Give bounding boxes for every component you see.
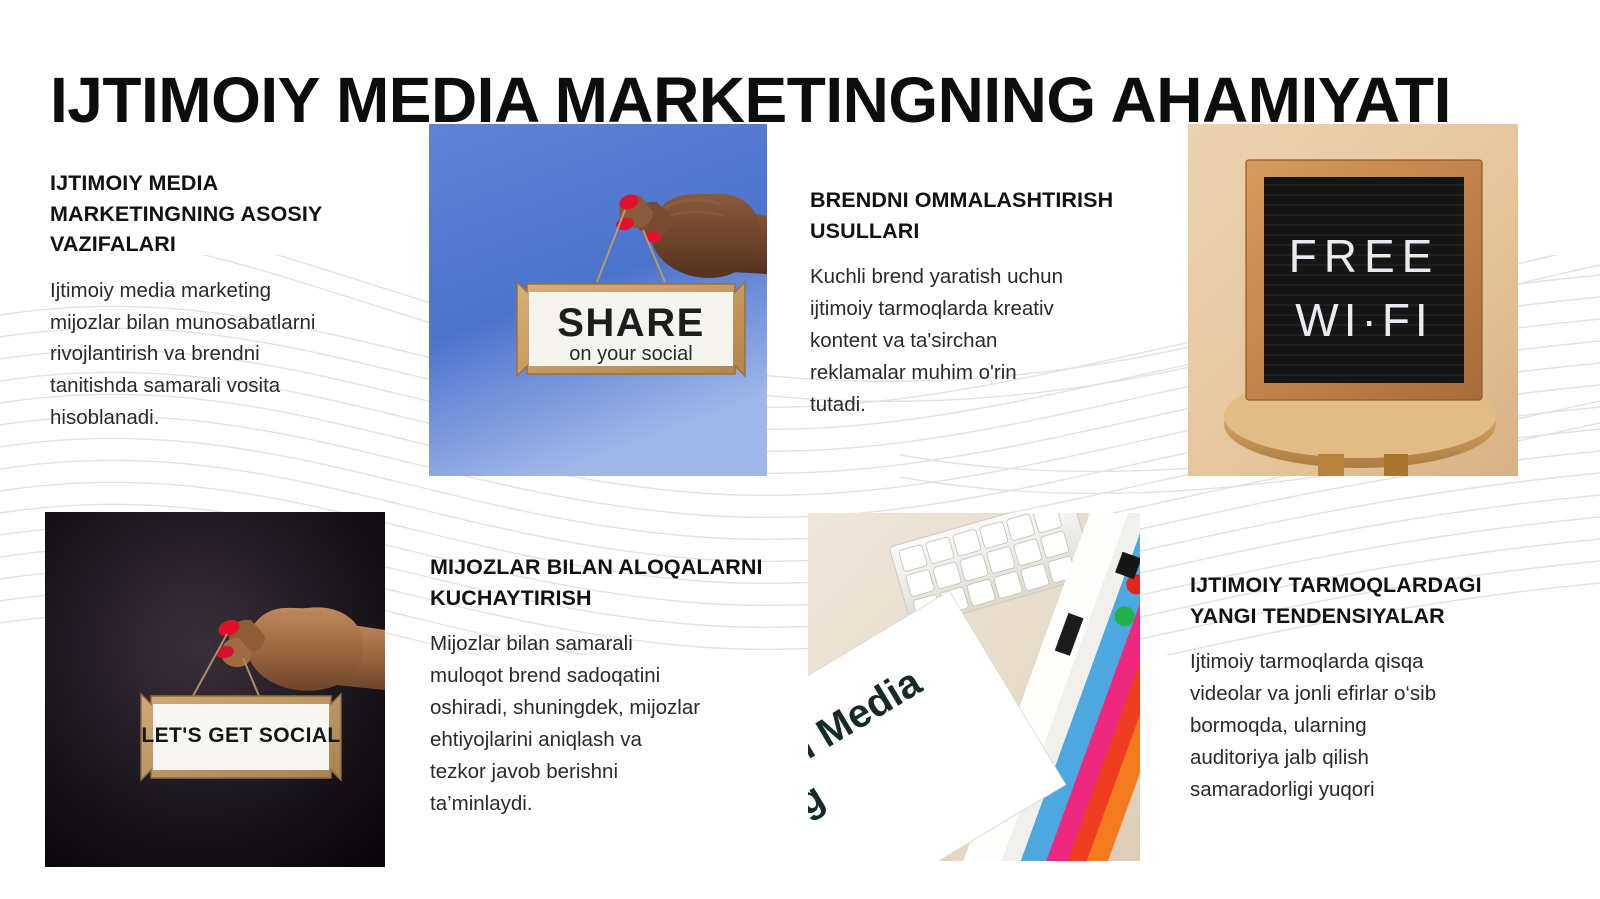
block-heading-relations: MIJOZLAR BILAN ALOQALARNI KUCHAYTIRISH [430, 552, 770, 613]
body-line: bormoqda, ularning [1190, 710, 1520, 742]
free-wifi-letterboard-photo: FREE WI·FI [1188, 124, 1518, 476]
body-line: rivojlantirish va brendni [50, 338, 390, 370]
heading-line: IJTIMOIY TARMOQLARDAGI [1190, 573, 1482, 597]
body-line: Ijtimoiy media marketing [50, 275, 390, 307]
heading-line: MIJOZLAR BILAN [430, 555, 613, 579]
body-line: auditoriya jalb qilish [1190, 742, 1520, 774]
body-line: tanitishda samarali vosita [50, 370, 390, 402]
heading-line: USULLARI [810, 219, 920, 243]
body-line: Kuchli brend yaratish uchun [810, 261, 1140, 293]
text-block-relations: MIJOZLAR BILAN ALOQALARNI KUCHAYTIRISH M… [430, 552, 770, 820]
body-line: ehtiyojlarini aniqlash va [430, 724, 770, 756]
block-heading-trends: IJTIMOIY TARMOQLARDAGI YANGI TENDENSIYAL… [1190, 570, 1520, 631]
presentation-slide: IJTIMOIY MEDIA MARKETINGNING AHAMIYATI I… [0, 0, 1600, 899]
social-media-marketing-notebook-photo: ocial Media ting [808, 513, 1140, 861]
body-line: kontent va ta'sirchan [810, 325, 1140, 357]
body-line: ijtimoiy tarmoqlarda kreativ [810, 293, 1140, 325]
svg-text:FREE: FREE [1289, 230, 1440, 282]
body-line: samaradorligi yuqori [1190, 774, 1520, 806]
body-line: Mijozlar bilan samarali [430, 628, 770, 660]
body-line: mijozlar bilan munosabatlarni [50, 307, 390, 339]
body-line: muloqot brend sadoqatini [430, 660, 770, 692]
svg-text:on your social: on your social [569, 343, 692, 365]
share-on-your-social-sign-photo: SHARE on your social [429, 124, 767, 476]
svg-text:LET'S GET SOCIAL: LET'S GET SOCIAL [141, 724, 340, 747]
block-body-brand: Kuchli brend yaratish uchun ijtimoiy tar… [810, 261, 1140, 421]
heading-line: MARKETINGNING ASOSIY [50, 202, 322, 226]
body-line: hisoblanadi. [50, 402, 390, 434]
heading-line: BRENDNI OMMALASHTIRISH [810, 188, 1113, 212]
body-line: ta’minlaydi. [430, 788, 770, 820]
block-body-tasks: Ijtimoiy media marketing mijozlar bilan … [50, 275, 390, 435]
heading-line: YANGI TENDENSIYALAR [1190, 604, 1445, 628]
lets-get-social-sign-photo: LET'S GET SOCIAL [45, 512, 385, 867]
page-title: IJTIMOIY MEDIA MARKETINGNING AHAMIYATI [50, 67, 1550, 134]
text-block-brand: BRENDNI OMMALASHTIRISH USULLARI Kuchli b… [810, 185, 1140, 421]
heading-line: VAZIFALARI [50, 232, 176, 256]
body-line: tutadi. [810, 389, 1140, 421]
text-block-tasks: IJTIMOIY MEDIA MARKETINGNING ASOSIY VAZI… [50, 168, 390, 434]
block-body-trends: Ijtimoiy tarmoqlarda qisqa videolar va j… [1190, 646, 1520, 806]
body-line: reklamalar muhim o'rin [810, 357, 1140, 389]
text-block-trends: IJTIMOIY TARMOQLARDAGI YANGI TENDENSIYAL… [1190, 570, 1520, 806]
block-heading-brand: BRENDNI OMMALASHTIRISH USULLARI [810, 185, 1140, 246]
svg-text:WI·FI: WI·FI [1295, 294, 1432, 346]
body-line: oshiradi, shuningdek, mijozlar [430, 692, 770, 724]
body-line: Ijtimoiy tarmoqlarda qisqa [1190, 646, 1520, 678]
body-line: videolar va jonli efirlar o‘sib [1190, 678, 1520, 710]
svg-text:SHARE: SHARE [557, 301, 705, 345]
block-heading-tasks: IJTIMOIY MEDIA MARKETINGNING ASOSIY VAZI… [50, 168, 390, 260]
block-body-relations: Mijozlar bilan samarali muloqot brend sa… [430, 628, 770, 820]
body-line: tezkor javob berishni [430, 756, 770, 788]
heading-line: IJTIMOIY MEDIA [50, 171, 217, 195]
